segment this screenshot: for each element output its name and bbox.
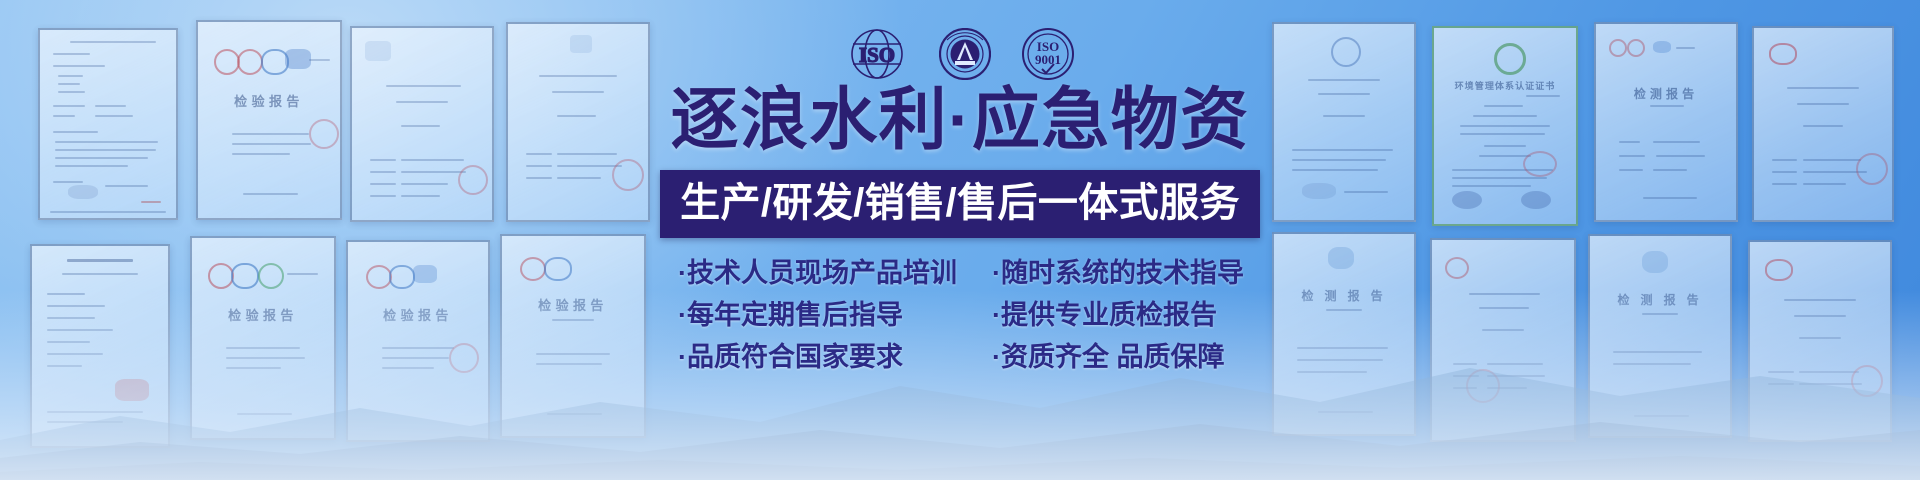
list-item: ·技术人员现场产品培训 [678,260,968,287]
list-item: ·资质齐全 品质保障 [992,344,1242,371]
page-title: 逐浪水利·应急物资 [671,86,1250,154]
iso-9001-seal-logo-icon: ISO 9001 [1021,28,1075,80]
iso-globe-logo-icon: ISO [845,28,909,80]
list-item: ·品质符合国家要求 [678,344,968,371]
promo-banner: 检验报告 [0,0,1920,480]
service-scope-bar: 生产/研发/销售/售后一体式服务 [660,170,1260,238]
svg-text:9001: 9001 [1035,52,1061,67]
svg-text:ISO: ISO [859,43,895,67]
list-item: ·每年定期售后指导 [678,302,968,329]
certification-logos: ISO [845,28,1075,80]
quality-seal-logo-icon [939,28,991,80]
list-item: ·提供专业质检报告 [992,302,1242,329]
banner-content: ISO [0,0,1920,480]
list-item: ·随时系统的技术指导 [992,260,1242,287]
feature-bullet-list: ·技术人员现场产品培训 ·随时系统的技术指导 ·每年定期售后指导 ·提供专业质检… [678,260,1242,371]
